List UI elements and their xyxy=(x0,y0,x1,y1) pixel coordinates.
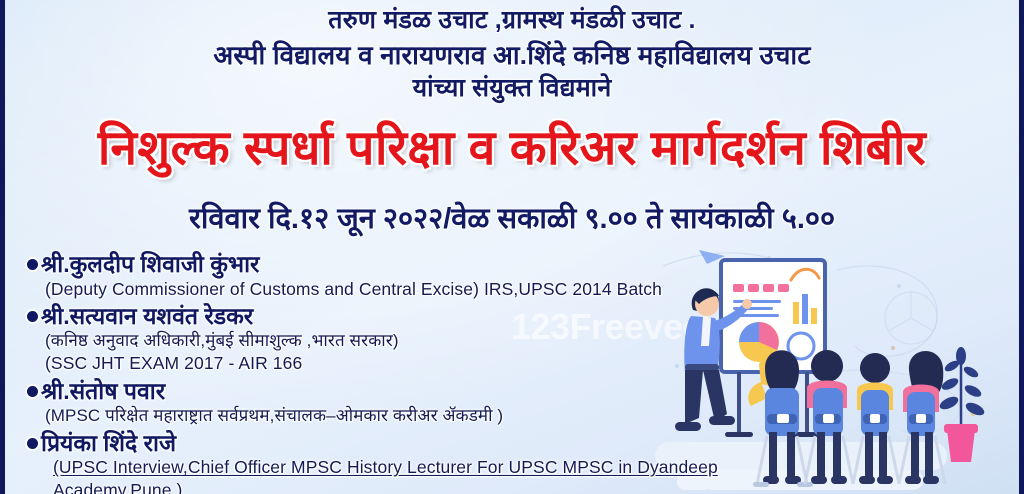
speaker-detail: (कनिष्ठ अनुवाद अधिकारी,मुंबई सीमाशुल्क ,… xyxy=(45,330,787,352)
speaker-name: प्रियंका शिंदे राजे xyxy=(41,430,176,457)
speaker-list: श्री.कुलदीप शिवाजी कुंभार (Deputy Commis… xyxy=(27,248,787,494)
header-line-1: तरुण मंडळ उचाट ,ग्रामस्थ मंडळी उचाट . xyxy=(5,6,1019,36)
bullet-icon xyxy=(27,438,38,449)
speaker-name-row: श्री.सत्यवान यशवंत रेडकर xyxy=(27,303,787,330)
poster-header: तरुण मंडळ उचाट ,ग्रामस्थ मंडळी उचाट . अस… xyxy=(5,6,1019,104)
speaker-entry: प्रियंका शिंदे राजे (UPSC Interview,Chie… xyxy=(27,430,787,494)
speaker-entry: श्री.सत्यवान यशवंत रेडकर (कनिष्ठ अनुवाद … xyxy=(27,303,787,375)
speaker-entry: श्री.कुलदीप शिवाजी कुंभार (Deputy Commis… xyxy=(27,251,787,300)
speaker-detail: (MPSC परिक्षेत महाराष्ट्रात सर्वप्रथम,सं… xyxy=(45,405,787,427)
poster-date-time: रविवार दि.१२ जून २०२२/वेळ सकाळी ९.०० ते … xyxy=(5,198,1019,237)
poster-main-title: निशुल्क स्पर्धा परिक्षा व करिअर मार्गदर्… xyxy=(5,124,1019,174)
speaker-name-row: श्री.संतोष पवार xyxy=(27,378,787,405)
speaker-name-row: प्रियंका शिंदे राजे xyxy=(27,430,787,457)
header-line-2: अस्पी विद्यालय व नारायणराव आ.शिंदे कनिष्… xyxy=(5,40,1019,71)
speaker-name: श्री.संतोष पवार xyxy=(41,378,165,405)
speaker-name: श्री.कुलदीप शिवाजी कुंभार xyxy=(41,251,259,278)
poster-canvas: 123Freevec तरुण मंडळ उचाट ,ग्रामस्थ मंडळ… xyxy=(0,0,1024,494)
speaker-name-row: श्री.कुलदीप शिवाजी कुंभार xyxy=(27,251,787,278)
speaker-detail: (UPSC Interview,Chief Officer MPSC Histo… xyxy=(53,456,787,494)
header-line-3: यांच्या संयुक्त विद्यमाने xyxy=(5,74,1019,104)
speaker-detail: (SSC JHT EXAM 2017 - AIR 166 xyxy=(45,352,787,375)
speaker-entry: श्री.संतोष पवार (MPSC परिक्षेत महाराष्ट्… xyxy=(27,378,787,427)
bullet-icon xyxy=(27,259,38,270)
speaker-detail: (Deputy Commissioner of Customs and Cent… xyxy=(45,278,787,301)
bullet-icon xyxy=(27,386,38,397)
speaker-name: श्री.सत्यवान यशवंत रेडकर xyxy=(41,303,253,330)
bullet-icon xyxy=(27,311,38,322)
